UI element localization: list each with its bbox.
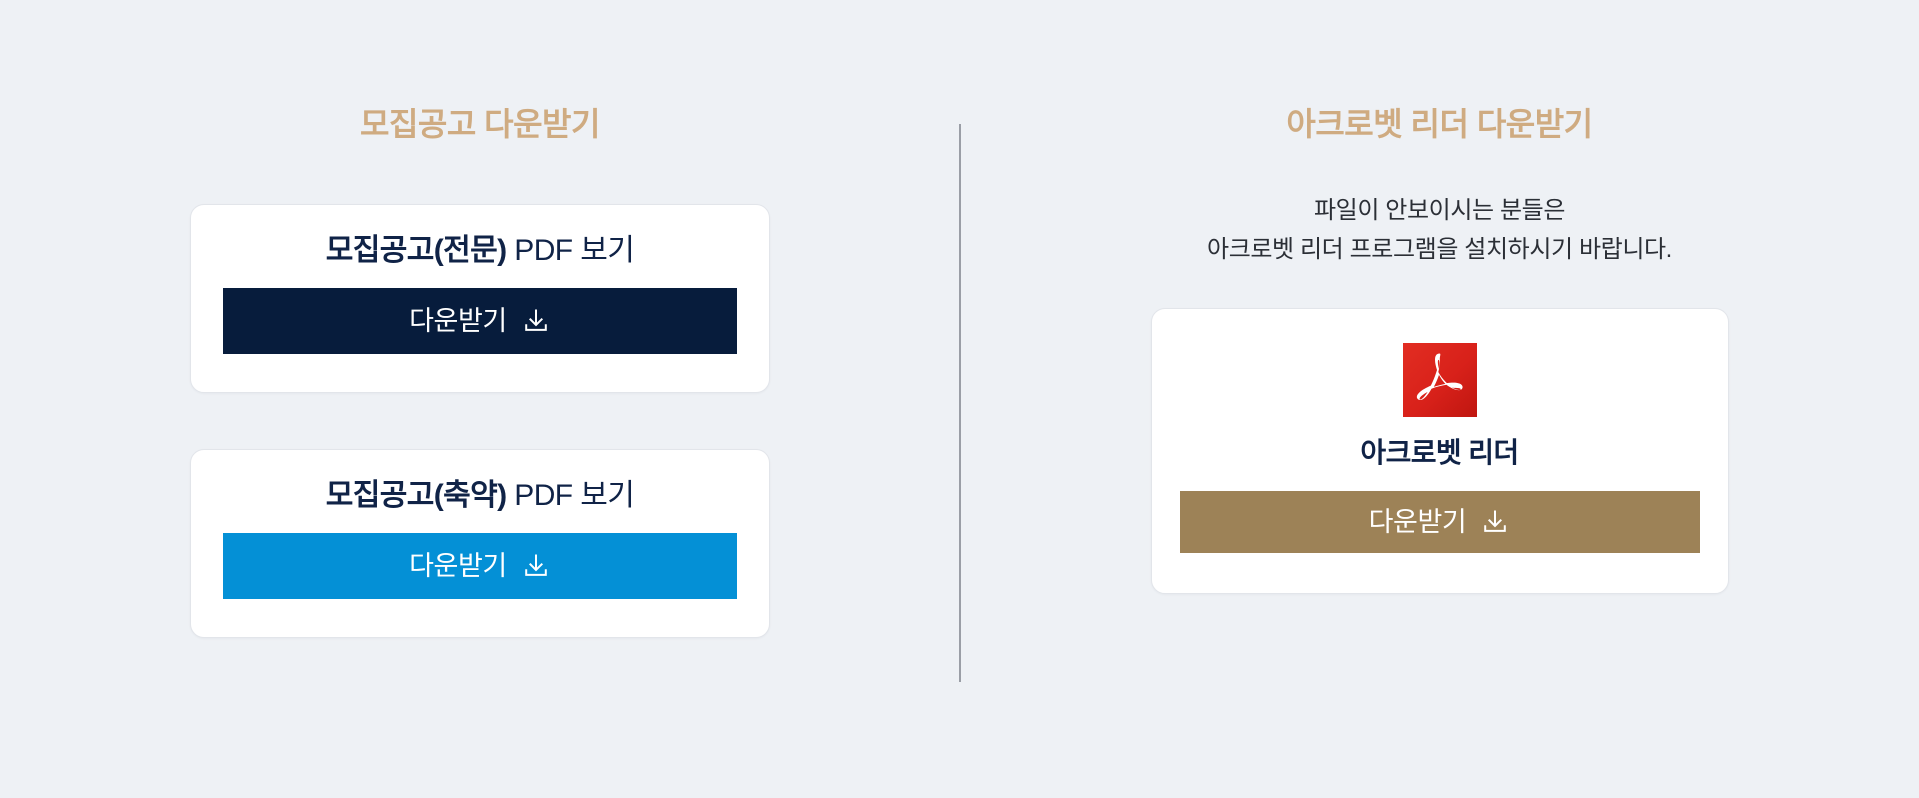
download-button-label-full: 다운받기 <box>409 308 507 335</box>
left-section-heading: 모집공고 다운받기 <box>360 104 600 144</box>
card-title-rest-summary: PDF 보기 <box>507 479 635 512</box>
download-button-recruitment-summary[interactable]: 다운받기 <box>223 533 737 599</box>
card-title-bold-summary: 모집공고(축약) <box>326 479 507 512</box>
left-column-inner: 모집공고 다운받기 모집공고(전문) PDF 보기 다운받기 <box>0 0 960 638</box>
download-button-recruitment-full[interactable]: 다운받기 <box>223 288 737 354</box>
card-title-summary: 모집공고(축약) PDF 보기 <box>326 476 634 515</box>
download-button-label-summary: 다운받기 <box>409 553 507 580</box>
card-recruitment-full[interactable]: 모집공고(전문) PDF 보기 다운받기 <box>190 204 770 393</box>
download-icon <box>521 306 551 336</box>
adobe-acrobat-reader-icon <box>1403 343 1477 417</box>
right-card-wrap: 아크로벳 리더 다운받기 <box>1151 308 1729 594</box>
download-button-acrobat-reader[interactable]: 다운받기 <box>1180 491 1700 553</box>
left-column: 모집공고 다운받기 모집공고(전문) PDF 보기 다운받기 <box>0 0 960 798</box>
download-page: 모집공고 다운받기 모집공고(전문) PDF 보기 다운받기 <box>0 0 1919 798</box>
download-icon <box>1480 507 1510 537</box>
card-acrobat-reader[interactable]: 아크로벳 리더 다운받기 <box>1151 308 1729 594</box>
acrobat-notice-line-2: 아크로벳 리더 프로그램을 설치하시기 바랍니다. <box>1207 231 1672 270</box>
card-recruitment-summary[interactable]: 모집공고(축약) PDF 보기 다운받기 <box>190 449 770 638</box>
card-title-full: 모집공고(전문) PDF 보기 <box>326 231 634 270</box>
download-icon <box>521 551 551 581</box>
acrobat-reader-name: 아크로벳 리더 <box>1360 435 1518 471</box>
right-column: 아크로벳 리더 다운받기 파일이 안보이시는 분들은 아크로벳 리더 프로그램을… <box>960 0 1919 798</box>
acrobat-notice-line-1: 파일이 안보이시는 분들은 <box>1207 192 1672 231</box>
card-title-bold-full: 모집공고(전문) <box>326 234 507 267</box>
right-column-inner: 아크로벳 리더 다운받기 파일이 안보이시는 분들은 아크로벳 리더 프로그램을… <box>960 0 1919 594</box>
left-card-list: 모집공고(전문) PDF 보기 다운받기 <box>190 204 770 638</box>
right-section-heading: 아크로벳 리더 다운받기 <box>1286 104 1592 144</box>
download-button-label-acrobat: 다운받기 <box>1369 509 1467 536</box>
card-title-rest-full: PDF 보기 <box>507 234 635 267</box>
acrobat-notice: 파일이 안보이시는 분들은 아크로벳 리더 프로그램을 설치하시기 바랍니다. <box>1207 192 1672 270</box>
